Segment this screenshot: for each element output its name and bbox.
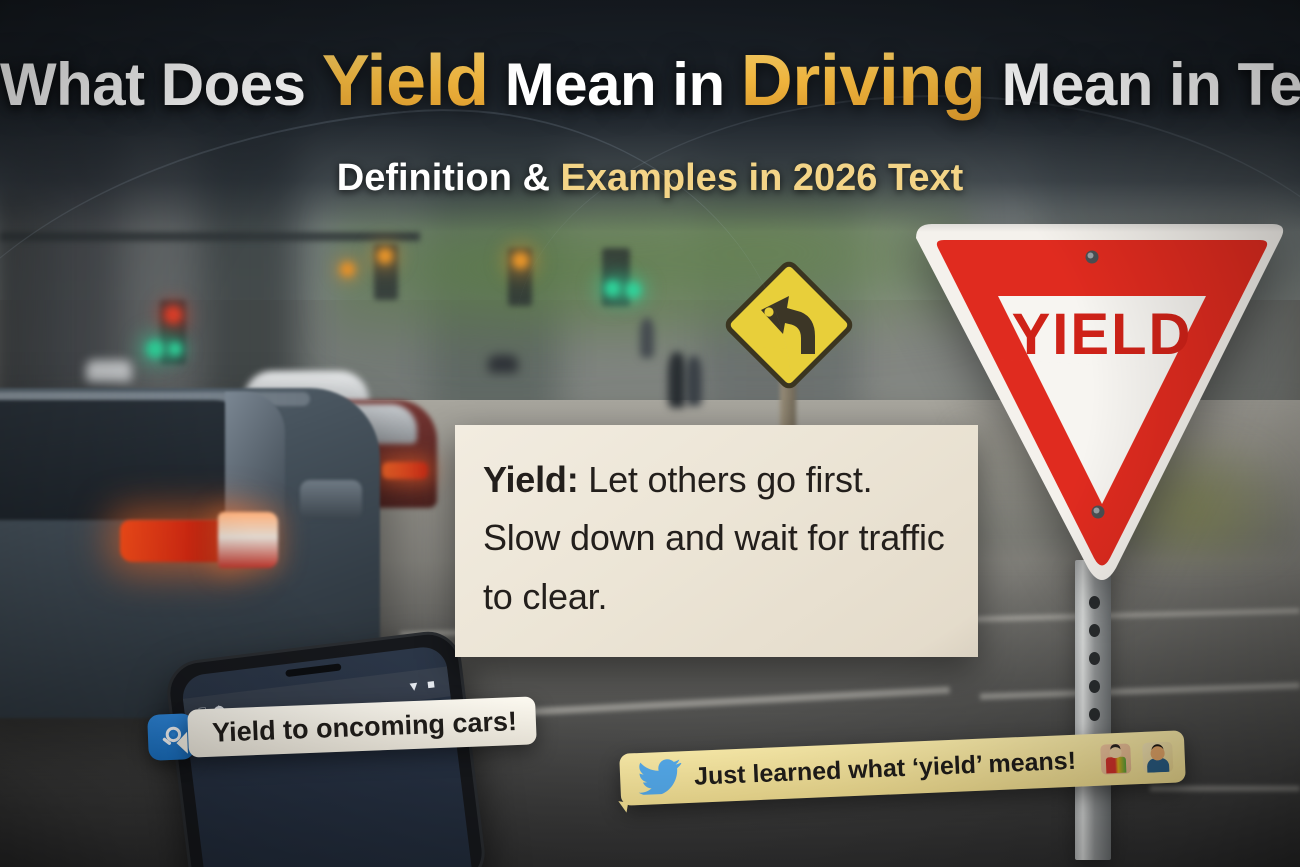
subtitle-highlight: Examples in 2026 Text bbox=[561, 157, 964, 199]
definition-callout-card: Yield: Let others go first. Slow down an… bbox=[455, 425, 978, 657]
traffic-light-green bbox=[604, 280, 621, 297]
suv-taillight-right bbox=[218, 512, 278, 568]
sign-post-hole bbox=[1089, 680, 1100, 693]
red-sedan-taillight bbox=[382, 462, 428, 479]
definition-text: Yield: Let others go first. Slow down an… bbox=[483, 451, 950, 626]
traffic-light-amber bbox=[512, 252, 529, 269]
traffic-light-green bbox=[146, 340, 164, 358]
sign-post-hole bbox=[1089, 708, 1100, 721]
pedestrian-silhouette bbox=[686, 356, 702, 406]
lane-marking bbox=[1150, 786, 1300, 791]
suv-side-mirror bbox=[300, 480, 362, 520]
distant-car bbox=[488, 355, 518, 373]
pedestrian-silhouette bbox=[668, 352, 686, 408]
traffic-light-amber bbox=[377, 248, 393, 264]
definition-lead: Yield: bbox=[483, 459, 578, 500]
search-bubble-text: Yield to oncoming cars! bbox=[212, 706, 518, 749]
page-title: What Does Yield Mean in Driving Mean in … bbox=[0, 44, 1300, 120]
title-segment-1: What Does bbox=[0, 51, 322, 118]
traffic-light-housing bbox=[602, 248, 630, 306]
signal-icon: ▼ bbox=[407, 678, 421, 692]
subtitle-segment-1: Definition & bbox=[337, 157, 561, 199]
infographic-canvas: YIELD ⎕ ☂ ▼ ■ What Does Yield Mean in Dr… bbox=[0, 0, 1300, 867]
sign-post-hole bbox=[1089, 624, 1100, 637]
title-segment-3: Mean in Text? bbox=[985, 51, 1300, 118]
battery-icon: ■ bbox=[426, 677, 435, 691]
traffic-light-green bbox=[168, 342, 182, 356]
title-highlight-yield: Yield bbox=[322, 41, 489, 121]
title-highlight-driving: Driving bbox=[741, 41, 986, 121]
traffic-light-red bbox=[164, 306, 182, 324]
phone-speaker-notch bbox=[285, 663, 341, 677]
twitter-bird-icon bbox=[637, 757, 683, 800]
person-emoji bbox=[1142, 742, 1173, 773]
title-segment-2: Mean in bbox=[489, 51, 741, 118]
signal-mast-arm bbox=[0, 232, 420, 241]
yield-sign-label: YIELD bbox=[1012, 302, 1193, 367]
suv-rear-window bbox=[0, 400, 260, 520]
traffic-light-amber bbox=[340, 262, 355, 277]
sign-post-hole bbox=[1089, 652, 1100, 665]
pedestrian-silhouette bbox=[640, 318, 654, 358]
distant-car bbox=[86, 360, 132, 382]
traffic-light-green bbox=[625, 282, 641, 298]
tweet-bubble-text: Just learned what ‘yield’ means! bbox=[694, 746, 1090, 792]
graduate-emoji bbox=[1100, 743, 1131, 774]
page-subtitle: Definition & Examples in 2026 Text bbox=[0, 157, 1300, 200]
merge-warning-sign bbox=[722, 258, 856, 392]
